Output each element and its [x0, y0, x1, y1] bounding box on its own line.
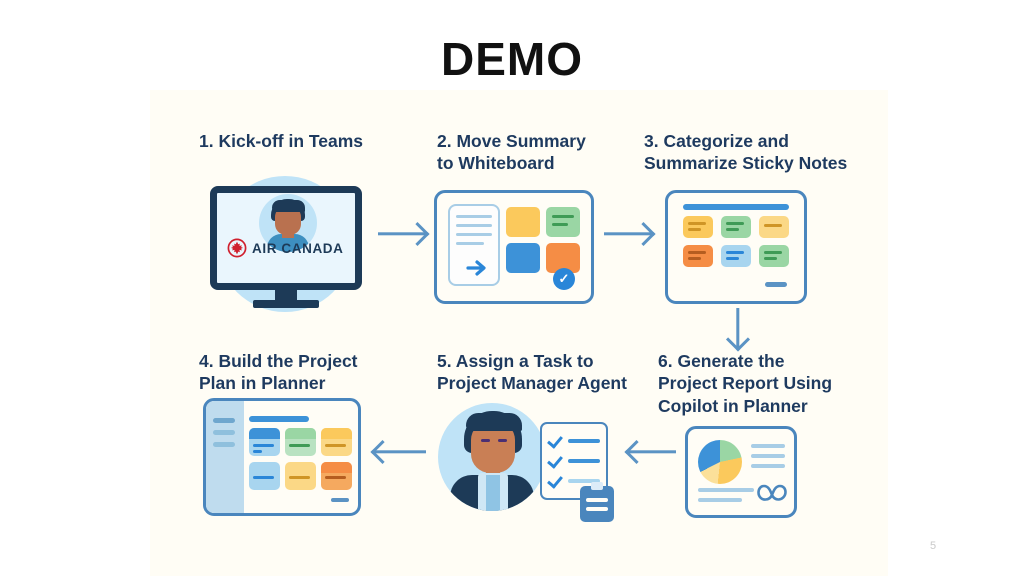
sticky-notes-grid-icon [665, 190, 807, 304]
step-6-label: 6. Generate the Project Report Using Cop… [658, 350, 868, 417]
copilot-icon [757, 482, 787, 508]
step-4-label: 4. Build the Project Plan in Planner [199, 350, 409, 395]
step-3-label: 3. Categorize and Summarize Sticky Notes [644, 130, 869, 175]
arrow-step2-to-step3 [604, 222, 652, 246]
step-3: 3. Categorize and Summarize Sticky Notes [644, 130, 869, 175]
page-number: 5 [930, 540, 936, 552]
step-1: 1. Kick-off in Teams [199, 130, 419, 152]
arrow-step6-to-step5 [628, 440, 676, 464]
report-copilot-icon [685, 426, 797, 518]
arrow-step1-to-step2 [378, 222, 426, 246]
air-canada-brand-text: AIR CANADA [252, 241, 344, 256]
project-manager-agent-icon [438, 398, 618, 524]
step-2: 2. Move Summary to Whiteboard [437, 130, 647, 175]
page-title: DEMO [0, 32, 1024, 86]
step-5-label: 5. Assign a Task to Project Manager Agen… [437, 350, 652, 395]
step-6: 6. Generate the Project Report Using Cop… [658, 350, 868, 417]
doc-arrow-icon [466, 258, 488, 278]
step-5: 5. Assign a Task to Project Manager Agen… [437, 350, 652, 395]
whiteboard-sticky-notes-icon: ✓ [434, 190, 594, 304]
air-canada-maple-leaf-icon [227, 238, 247, 258]
arrow-step5-to-step4 [374, 440, 426, 464]
planner-board-icon [203, 398, 361, 516]
slide-canvas: DEMO 1. Kick-off in Teams AIR CANADA 2. … [0, 0, 1024, 576]
step-4: 4. Build the Project Plan in Planner [199, 350, 409, 395]
step-1-label: 1. Kick-off in Teams [199, 130, 419, 152]
arrow-step3-to-step6 [726, 308, 750, 348]
step-2-label: 2. Move Summary to Whiteboard [437, 130, 647, 175]
monitor-teams-call-icon: AIR CANADA [203, 172, 368, 314]
